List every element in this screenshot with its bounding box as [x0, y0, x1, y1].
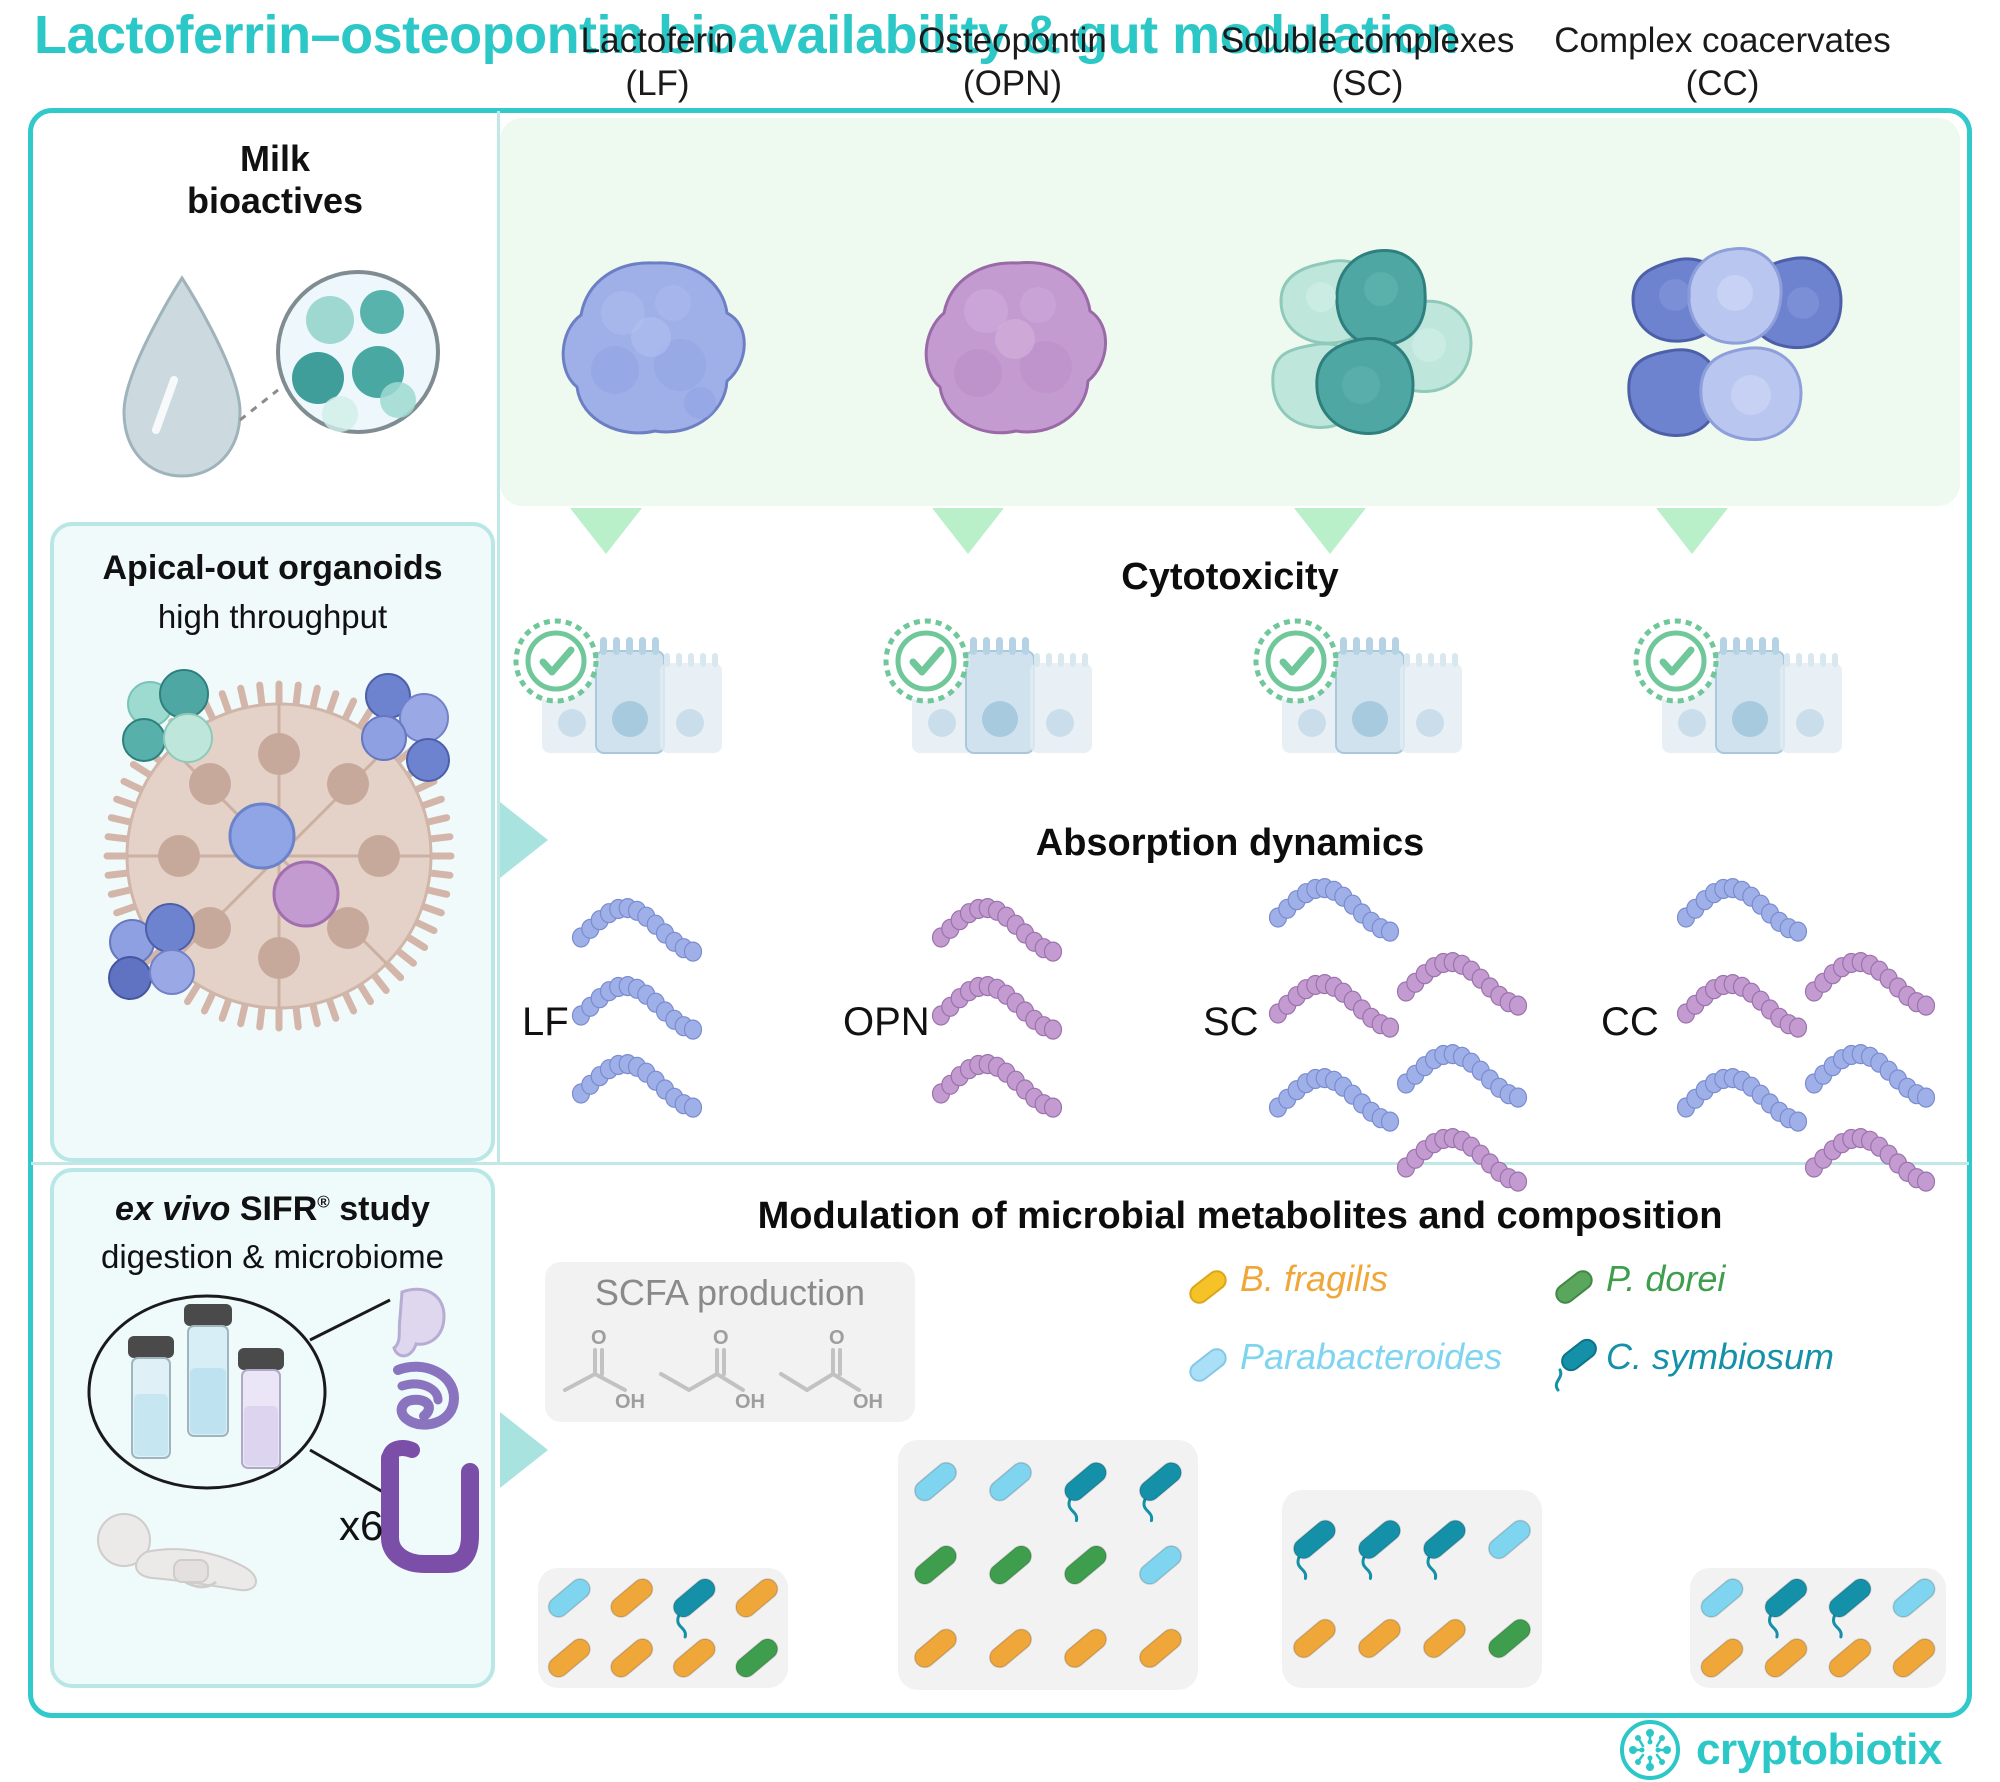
- milk-heading-line1: Milk: [240, 138, 310, 179]
- organoid-heading: Apical-out organoids: [54, 548, 491, 588]
- bacterium-rod-green-icon: [1552, 1262, 1598, 1308]
- sifr-subheading: digestion & microbiome: [54, 1238, 491, 1276]
- scfa-production-box: SCFA production OOH OOH OOH: [545, 1262, 915, 1422]
- bacterium-rod-teal-flagellum-icon: [1548, 1334, 1606, 1396]
- bioactive-header-sc: Soluble complexes (SC): [1190, 20, 1545, 105]
- arrow-down-cc: [1656, 508, 1728, 554]
- svg-text:OH: OH: [735, 1391, 765, 1413]
- composition-box-cc: [1690, 1568, 1946, 1688]
- bioactive-name-lf: Lactoferin: [581, 21, 735, 60]
- green-check-badge: [1636, 621, 1716, 701]
- bioactive-name-sc: Soluble complexes: [1221, 21, 1515, 60]
- arrow-right-sifr: [500, 1412, 548, 1488]
- legend-label-b-fragilis: B. fragilis: [1240, 1258, 1388, 1300]
- replicate-count-label: x6: [339, 1502, 383, 1550]
- bacterium-rod-yellow-icon: [1186, 1262, 1232, 1308]
- svg-text:O: O: [713, 1327, 729, 1349]
- svg-text:O: O: [591, 1327, 607, 1349]
- green-check-badge: [1256, 621, 1336, 701]
- protein-blob-opn: [920, 255, 1115, 445]
- svg-text:OH: OH: [853, 1391, 883, 1413]
- absorption-label-lf: LF: [522, 1000, 569, 1045]
- cytotoxicity-result-sc: [1250, 615, 1480, 760]
- absorption-label-cc: CC: [1601, 1000, 1659, 1045]
- bioactive-abbrev-opn: (OPN): [963, 64, 1062, 103]
- green-check-badge: [886, 621, 966, 701]
- milk-droplet-icon: [82, 260, 472, 490]
- bioactive-abbrev-sc: (SC): [1332, 64, 1404, 103]
- composition-box-opn: [898, 1440, 1198, 1690]
- organoid-subheading: high throughput: [54, 598, 491, 636]
- peptide-chains-cc: [1680, 880, 1970, 1140]
- brand-name: cryptobiotix: [1696, 1725, 1942, 1775]
- cytotoxicity-result-lf: [510, 615, 740, 760]
- sifr-heading-exvivo: ex vivo: [115, 1190, 230, 1228]
- cytotoxicity-result-opn: [880, 615, 1110, 760]
- legend-label-parabacteroides: Parabacteroides: [1240, 1336, 1502, 1378]
- protein-blob-cc: [1625, 245, 1860, 455]
- protein-blob-sc: [1265, 245, 1495, 455]
- scfa-title: SCFA production: [545, 1272, 915, 1314]
- sifr-registered-mark: ®: [317, 1193, 330, 1212]
- section-heading-cytotoxicity: Cytotoxicity: [500, 556, 1960, 599]
- bioactive-name-opn: Osteopontin: [918, 21, 1107, 60]
- composition-box-lf: [538, 1568, 788, 1688]
- bioactive-header-cc: Complex coacervates (CC): [1545, 20, 1900, 105]
- milk-heading-line2: bioactives: [187, 180, 363, 221]
- bioactive-abbrev-lf: (LF): [625, 64, 689, 103]
- panel-apical-out-organoids: Apical-out organoids high throughput: [50, 522, 495, 1162]
- peptide-chains-sc: [1272, 880, 1562, 1140]
- bioactive-name-cc: Complex coacervates: [1554, 21, 1891, 60]
- section-heading-absorption: Absorption dynamics: [500, 822, 1960, 865]
- cryptobiotix-microbe-circle-logo-icon: [1618, 1718, 1682, 1782]
- bioactive-abbrev-cc: (CC): [1686, 64, 1760, 103]
- panel-milk-bioactives: Milk bioactives: [60, 120, 490, 510]
- bioactive-header-opn: Osteopontin (OPN): [835, 20, 1190, 105]
- sifr-heading: ex vivo SIFR® study: [54, 1190, 491, 1229]
- arrow-down-sc: [1294, 508, 1366, 554]
- footer-logo: cryptobiotix: [1618, 1718, 1942, 1782]
- svg-text:O: O: [829, 1327, 845, 1349]
- green-check-badge: [516, 621, 596, 701]
- legend-label-c-symbiosum: C. symbiosum: [1606, 1336, 1834, 1378]
- panel-ex-vivo-sifr-study: ex vivo SIFR® study digestion & microbio…: [50, 1168, 495, 1688]
- sifr-heading-study: study: [339, 1190, 430, 1228]
- milk-heading: Milk bioactives: [60, 138, 490, 223]
- composition-box-sc: [1282, 1490, 1542, 1688]
- bacterium-rod-lightblue-icon: [1186, 1340, 1232, 1386]
- peptide-chains-opn: [935, 900, 1095, 1140]
- peptide-chains-lf: [575, 900, 735, 1140]
- section-heading-modulation: Modulation of microbial metabolites and …: [540, 1195, 1940, 1238]
- arrow-down-lf: [570, 508, 642, 554]
- svg-text:OH: OH: [615, 1391, 645, 1413]
- bioactive-header-lf: Lactoferin (LF): [480, 20, 835, 105]
- sifr-vials-organs-illustration: [72, 1282, 482, 1602]
- scfa-molecule-structures: OOH OOH OOH: [553, 1320, 909, 1416]
- legend-label-p-dorei: P. dorei: [1606, 1258, 1725, 1300]
- sifr-heading-sifr: SIFR: [240, 1190, 317, 1228]
- organoid-illustration: [84, 656, 474, 1056]
- arrow-down-opn: [932, 508, 1004, 554]
- cytotoxicity-result-cc: [1630, 615, 1860, 760]
- protein-blob-lf: [555, 255, 755, 445]
